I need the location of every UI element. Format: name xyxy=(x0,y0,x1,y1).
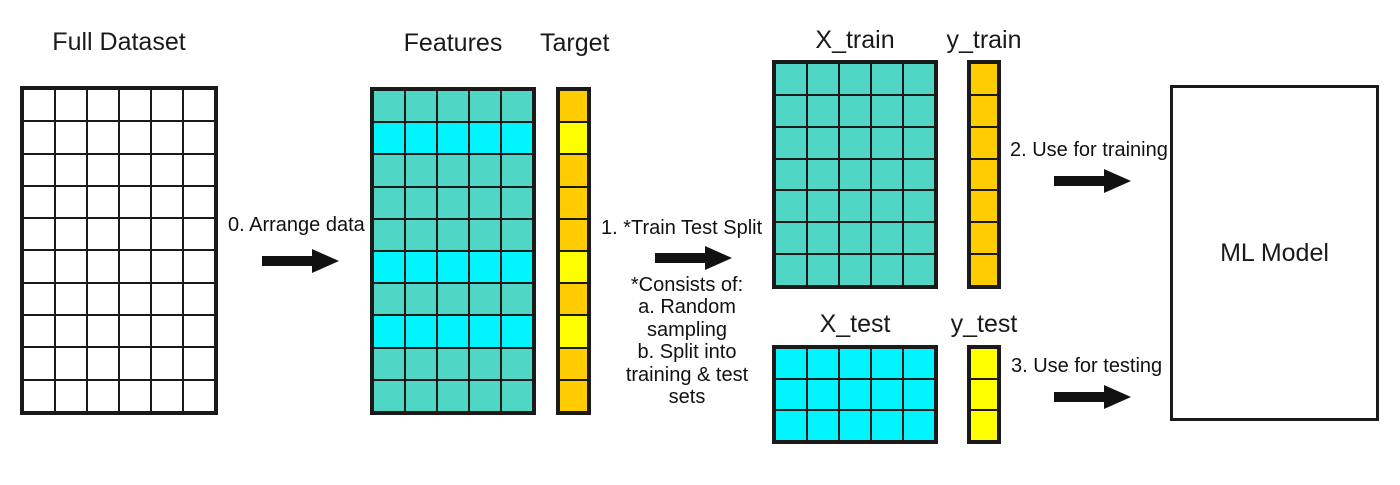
full-dataset-cell xyxy=(152,187,182,217)
x-train-cell xyxy=(808,128,838,158)
full-dataset-cell xyxy=(120,381,150,411)
y-test-grid xyxy=(967,345,1001,444)
full-dataset-cell xyxy=(184,348,214,378)
features-cell xyxy=(438,188,468,218)
note-line-5: sets xyxy=(601,386,773,408)
features-cell xyxy=(374,381,404,411)
x-train-title: X_train xyxy=(772,26,938,55)
x-train-cell xyxy=(872,191,902,221)
target-cell xyxy=(560,284,587,314)
full-dataset-cell xyxy=(88,381,118,411)
y-test-cell xyxy=(971,411,997,440)
target-title: Target xyxy=(540,29,592,58)
x-test-cell xyxy=(872,349,902,378)
y-test-title: y_test xyxy=(944,310,1024,339)
full-dataset-cell xyxy=(24,187,54,217)
full-dataset-cell xyxy=(24,90,54,120)
features-cell xyxy=(502,91,532,121)
features-cell xyxy=(502,155,532,185)
full-dataset-cell xyxy=(152,122,182,152)
note-line-4: training & test xyxy=(601,364,773,386)
features-cell xyxy=(438,316,468,346)
x-test-cell xyxy=(872,411,902,440)
features-cell xyxy=(470,220,500,250)
features-cell xyxy=(502,188,532,218)
x-train-cell xyxy=(872,223,902,253)
features-cell xyxy=(406,188,436,218)
full-dataset-cell xyxy=(184,219,214,249)
step-3-label: 3. Use for testing xyxy=(1011,355,1162,378)
full-dataset-cell xyxy=(56,251,86,281)
full-dataset-cell xyxy=(152,251,182,281)
x-test-cell xyxy=(904,349,934,378)
target-cell xyxy=(560,381,587,411)
features-cell xyxy=(502,381,532,411)
features-cell xyxy=(470,316,500,346)
full-dataset-cell xyxy=(152,284,182,314)
full-dataset-cell xyxy=(120,187,150,217)
y-train-cell xyxy=(971,223,997,253)
x-train-cell xyxy=(776,128,806,158)
x-train-cell xyxy=(840,223,870,253)
features-cell xyxy=(438,252,468,282)
full-dataset-cell xyxy=(56,284,86,314)
features-cell xyxy=(470,123,500,153)
full-dataset-cell xyxy=(120,90,150,120)
x-test-cell xyxy=(840,380,870,409)
x-train-cell xyxy=(840,160,870,190)
full-dataset-cell xyxy=(120,316,150,346)
x-train-cell xyxy=(872,64,902,94)
x-test-cell xyxy=(872,380,902,409)
x-train-cell xyxy=(840,191,870,221)
ml-model-box: ML Model xyxy=(1170,85,1379,421)
full-dataset-cell xyxy=(24,348,54,378)
features-cell xyxy=(406,220,436,250)
features-grid xyxy=(370,87,536,415)
features-cell xyxy=(406,155,436,185)
x-train-cell xyxy=(904,223,934,253)
full-dataset-cell xyxy=(120,251,150,281)
features-cell xyxy=(470,91,500,121)
full-dataset-cell xyxy=(56,219,86,249)
x-train-cell xyxy=(872,160,902,190)
x-test-cell xyxy=(776,411,806,440)
full-dataset-cell xyxy=(88,316,118,346)
x-train-grid xyxy=(772,60,938,289)
x-train-cell xyxy=(776,160,806,190)
full-dataset-cell xyxy=(24,381,54,411)
full-dataset-grid xyxy=(20,86,218,415)
features-cell xyxy=(374,123,404,153)
full-dataset-cell xyxy=(184,90,214,120)
train-test-split-note: *Consists of: a. Random sampling b. Spli… xyxy=(601,274,773,408)
features-cell xyxy=(502,220,532,250)
full-dataset-cell xyxy=(184,122,214,152)
target-cell xyxy=(560,252,587,282)
full-dataset-cell xyxy=(88,219,118,249)
full-dataset-cell xyxy=(24,316,54,346)
x-train-cell xyxy=(840,255,870,285)
full-dataset-cell xyxy=(120,219,150,249)
y-train-cell xyxy=(971,64,997,94)
full-dataset-cell xyxy=(120,122,150,152)
features-cell xyxy=(470,188,500,218)
features-cell xyxy=(470,155,500,185)
step-1-arrow xyxy=(655,245,733,271)
features-cell xyxy=(438,123,468,153)
x-train-cell xyxy=(904,128,934,158)
y-train-cell xyxy=(971,128,997,158)
full-dataset-cell xyxy=(152,219,182,249)
features-cell xyxy=(438,284,468,314)
y-test-cell xyxy=(971,380,997,409)
features-cell xyxy=(374,220,404,250)
target-grid xyxy=(556,87,591,415)
full-dataset-cell xyxy=(88,284,118,314)
x-train-cell xyxy=(840,96,870,126)
features-cell xyxy=(374,155,404,185)
full-dataset-cell xyxy=(56,381,86,411)
features-cell xyxy=(438,155,468,185)
x-test-title: X_test xyxy=(772,310,938,339)
diagram-canvas: Full Dataset 0. Arrange data Features Ta… xyxy=(0,0,1400,485)
ml-model-label: ML Model xyxy=(1220,239,1329,268)
full-dataset-cell xyxy=(184,251,214,281)
y-train-cell xyxy=(971,160,997,190)
full-dataset-cell xyxy=(56,187,86,217)
full-dataset-cell xyxy=(152,316,182,346)
x-train-cell xyxy=(904,96,934,126)
target-cell xyxy=(560,316,587,346)
full-dataset-title: Full Dataset xyxy=(20,28,218,57)
full-dataset-cell xyxy=(120,284,150,314)
x-train-cell xyxy=(872,128,902,158)
x-train-cell xyxy=(808,255,838,285)
features-cell xyxy=(438,349,468,379)
features-cell xyxy=(438,91,468,121)
note-line-0: *Consists of: xyxy=(601,274,773,296)
x-train-cell xyxy=(904,255,934,285)
features-cell xyxy=(406,123,436,153)
features-cell xyxy=(406,316,436,346)
x-train-cell xyxy=(904,64,934,94)
features-cell xyxy=(374,349,404,379)
x-test-cell xyxy=(808,380,838,409)
x-train-cell xyxy=(776,191,806,221)
x-train-cell xyxy=(808,160,838,190)
step-0-label: 0. Arrange data xyxy=(228,214,365,237)
step-1-label: 1. *Train Test Split xyxy=(601,217,762,240)
x-train-cell xyxy=(808,191,838,221)
features-cell xyxy=(406,284,436,314)
full-dataset-cell xyxy=(88,251,118,281)
full-dataset-cell xyxy=(56,122,86,152)
x-test-cell xyxy=(776,349,806,378)
step-2-label: 2. Use for training xyxy=(1010,139,1168,162)
features-cell xyxy=(438,220,468,250)
features-cell xyxy=(406,381,436,411)
target-cell xyxy=(560,349,587,379)
features-cell xyxy=(374,188,404,218)
y-test-cell xyxy=(971,349,997,378)
full-dataset-cell xyxy=(120,348,150,378)
step-0-arrow xyxy=(262,248,340,274)
full-dataset-cell xyxy=(88,187,118,217)
y-train-cell xyxy=(971,191,997,221)
x-test-cell xyxy=(808,411,838,440)
x-train-cell xyxy=(840,128,870,158)
full-dataset-cell xyxy=(24,284,54,314)
features-cell xyxy=(502,252,532,282)
note-line-3: b. Split into xyxy=(601,341,773,363)
full-dataset-cell xyxy=(184,187,214,217)
full-dataset-cell xyxy=(184,155,214,185)
features-cell xyxy=(502,284,532,314)
x-train-cell xyxy=(904,160,934,190)
target-cell xyxy=(560,123,587,153)
full-dataset-cell xyxy=(24,155,54,185)
full-dataset-cell xyxy=(88,122,118,152)
x-train-cell xyxy=(808,96,838,126)
x-train-cell xyxy=(808,223,838,253)
full-dataset-cell xyxy=(56,316,86,346)
y-train-cell xyxy=(971,96,997,126)
target-cell xyxy=(560,188,587,218)
full-dataset-cell xyxy=(152,348,182,378)
full-dataset-cell xyxy=(184,381,214,411)
features-cell xyxy=(406,349,436,379)
x-train-cell xyxy=(872,96,902,126)
features-cell xyxy=(438,381,468,411)
full-dataset-cell xyxy=(24,219,54,249)
x-test-cell xyxy=(904,380,934,409)
full-dataset-cell xyxy=(24,122,54,152)
features-cell xyxy=(374,91,404,121)
x-train-cell xyxy=(776,64,806,94)
x-train-cell xyxy=(776,223,806,253)
full-dataset-cell xyxy=(24,251,54,281)
x-test-cell xyxy=(808,349,838,378)
x-train-cell xyxy=(872,255,902,285)
target-cell xyxy=(560,91,587,121)
x-train-cell xyxy=(808,64,838,94)
x-train-cell xyxy=(840,64,870,94)
full-dataset-cell xyxy=(184,316,214,346)
features-cell xyxy=(502,349,532,379)
full-dataset-cell xyxy=(184,284,214,314)
features-cell xyxy=(374,316,404,346)
x-test-cell xyxy=(904,411,934,440)
features-cell xyxy=(406,252,436,282)
step-2-arrow xyxy=(1054,168,1132,194)
features-cell xyxy=(470,284,500,314)
full-dataset-cell xyxy=(88,348,118,378)
full-dataset-cell xyxy=(120,155,150,185)
full-dataset-cell xyxy=(56,155,86,185)
full-dataset-cell xyxy=(152,381,182,411)
y-train-title: y_train xyxy=(944,26,1024,55)
full-dataset-cell xyxy=(152,90,182,120)
x-train-cell xyxy=(776,255,806,285)
x-test-cell xyxy=(840,349,870,378)
features-cell xyxy=(470,252,500,282)
full-dataset-cell xyxy=(152,155,182,185)
features-cell xyxy=(470,381,500,411)
x-train-cell xyxy=(904,191,934,221)
features-cell xyxy=(374,284,404,314)
features-cell xyxy=(406,91,436,121)
x-test-cell xyxy=(776,380,806,409)
note-line-1: a. Random xyxy=(601,296,773,318)
features-cell xyxy=(470,349,500,379)
full-dataset-cell xyxy=(88,90,118,120)
step-3-arrow xyxy=(1054,384,1132,410)
target-cell xyxy=(560,220,587,250)
features-cell xyxy=(374,252,404,282)
full-dataset-cell xyxy=(56,90,86,120)
x-test-cell xyxy=(840,411,870,440)
full-dataset-cell xyxy=(56,348,86,378)
full-dataset-cell xyxy=(88,155,118,185)
note-line-2: sampling xyxy=(601,319,773,341)
features-cell xyxy=(502,123,532,153)
y-train-grid xyxy=(967,60,1001,289)
features-cell xyxy=(502,316,532,346)
y-train-cell xyxy=(971,255,997,285)
features-title: Features xyxy=(370,29,536,58)
x-train-cell xyxy=(776,96,806,126)
target-cell xyxy=(560,155,587,185)
x-test-grid xyxy=(772,345,938,444)
